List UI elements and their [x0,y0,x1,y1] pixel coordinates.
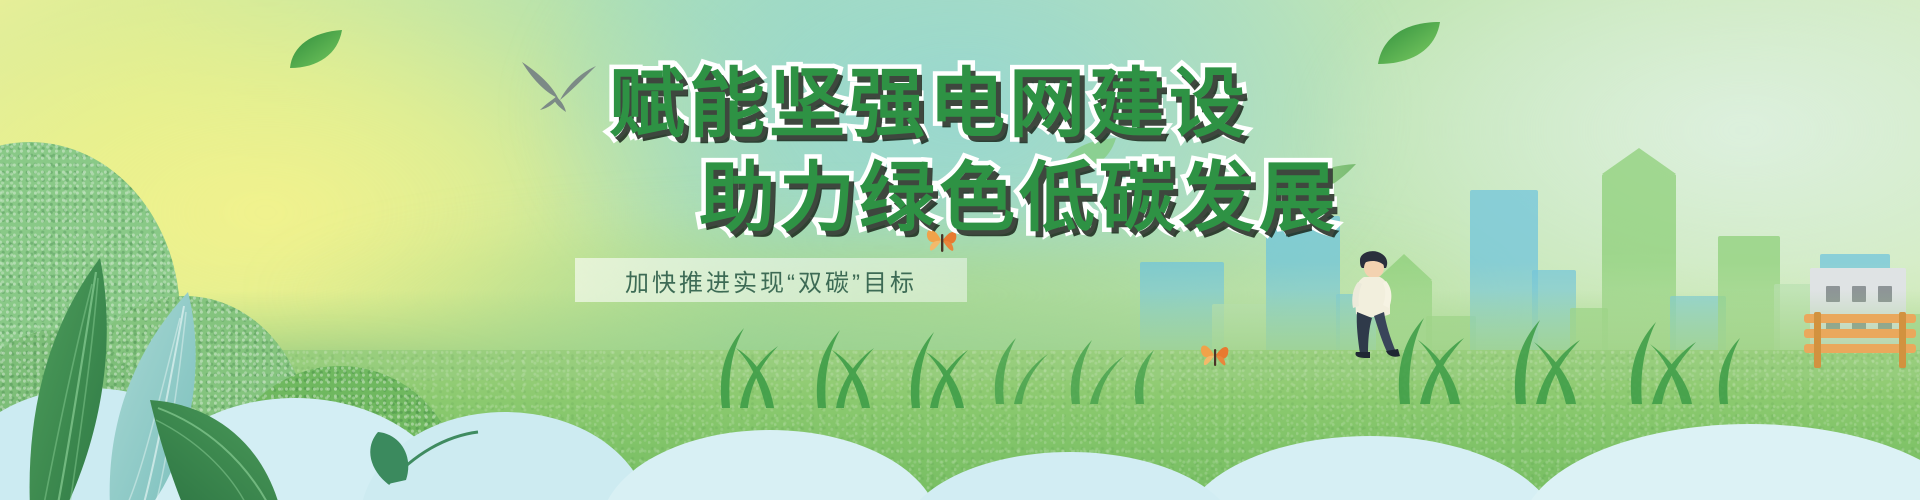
park-bench [1800,300,1920,375]
grass-cluster-far-left [980,314,1180,404]
floating-leaf-near-title [1274,160,1358,208]
grass-cluster [700,298,1000,408]
floating-leaf-top-right [1376,20,1442,66]
banner-subtitle: 加快推进实现“双碳”目标 [575,258,967,302]
grass-cluster-right [1380,284,1760,404]
leaf-stem-right [360,426,480,500]
leaf-tall-front [150,398,280,500]
floating-leaf-mid-right [1058,136,1118,176]
swallow-bird-icon [518,60,602,119]
walking-person [1334,248,1414,363]
butterfly-right-icon [1198,340,1232,377]
eco-grid-banner: 赋能坚强电网建设 助力绿色低碳发展 加快推进实现“双碳”目标 [0,0,1920,500]
floating-leaf-top-left [286,28,344,70]
